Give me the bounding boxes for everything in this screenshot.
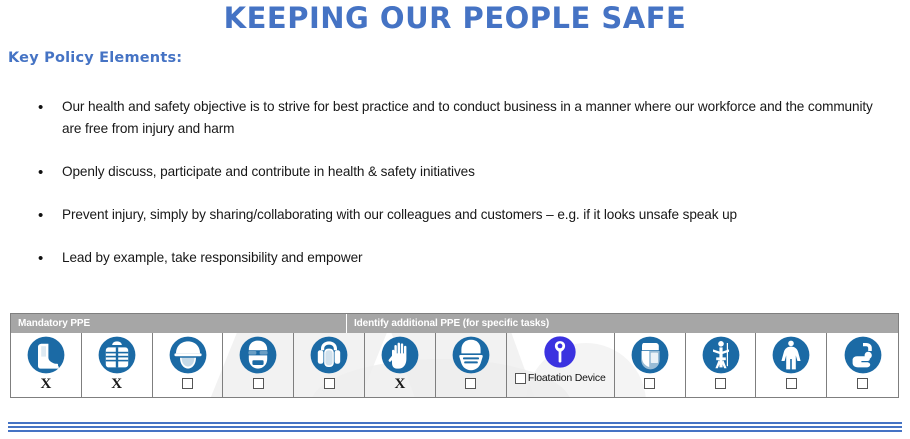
list-item: • Our health and safety objective is to … — [0, 96, 910, 140]
footer-divider — [8, 422, 902, 432]
ppe-cell-safety-harness[interactable] — [686, 333, 757, 397]
ppe-table-cells-row: X X — [10, 333, 899, 398]
ear-protection-icon — [309, 335, 349, 375]
ppe-checkbox-wrap[interactable] — [253, 378, 264, 389]
ppe-mark: X — [395, 376, 406, 392]
ppe-checkbox-label: Floatation Device — [528, 372, 606, 384]
ppe-cell-wash-hands[interactable] — [827, 333, 898, 397]
ppe-cell-safety-boots[interactable]: X — [11, 333, 82, 397]
ppe-cell-face-shield[interactable] — [615, 333, 686, 397]
page-title: KEEPING OUR PEOPLE SAFE — [0, 0, 910, 36]
ppe-cell-floatation-device[interactable]: Floatation Device — [507, 333, 615, 397]
ppe-checkbox-wrap[interactable] — [465, 378, 476, 389]
section-heading-key-policy-elements: Key Policy Elements: — [8, 50, 182, 66]
ppe-cell-dust-mask[interactable] — [436, 333, 507, 397]
ppe-checkbox[interactable] — [715, 378, 726, 389]
safety-harness-icon — [701, 335, 741, 375]
ppe-checkbox[interactable] — [182, 378, 193, 389]
ppe-cell-head-protection[interactable] — [153, 333, 224, 397]
divider-line — [8, 430, 902, 432]
ppe-checkbox[interactable] — [253, 378, 264, 389]
safety-boots-icon — [26, 335, 66, 375]
ppe-mark: X — [111, 376, 122, 392]
dust-mask-icon — [451, 335, 491, 375]
ppe-requirements-table: Mandatory PPE Identify additional PPE (f… — [10, 313, 899, 398]
ppe-cell-protective-clothing[interactable] — [756, 333, 827, 397]
key-policy-elements-list: • Our health and safety objective is to … — [0, 96, 910, 290]
high-visibility-vest-icon — [97, 335, 137, 375]
list-item: • Lead by example, take responsibility a… — [0, 247, 910, 269]
protective-gloves-icon — [380, 335, 420, 375]
ppe-checkbox-wrap[interactable] — [857, 378, 868, 389]
protective-clothing-icon — [771, 335, 811, 375]
ppe-checkbox[interactable] — [465, 378, 476, 389]
ppe-checkbox[interactable] — [786, 378, 797, 389]
ppe-checkbox-wrap[interactable] — [786, 378, 797, 389]
bullet-icon: • — [38, 162, 43, 184]
safety-glasses-icon — [238, 335, 278, 375]
bullet-icon: • — [38, 248, 43, 270]
ppe-cell-high-visibility-vest[interactable]: X — [82, 333, 153, 397]
wash-hands-icon — [843, 335, 883, 375]
ppe-checkbox[interactable] — [644, 378, 655, 389]
ppe-checkbox[interactable] — [515, 373, 526, 384]
bullet-icon: • — [38, 97, 43, 119]
ppe-checkbox[interactable] — [857, 378, 868, 389]
bullet-icon: • — [38, 205, 43, 227]
ppe-checkbox-wrap[interactable] — [182, 378, 193, 389]
list-item: • Prevent injury, simply by sharing/coll… — [0, 204, 910, 226]
floatation-device-icon — [543, 335, 577, 369]
ppe-checkbox-wrap[interactable] — [715, 378, 726, 389]
list-item-text: Our health and safety objective is to st… — [62, 99, 873, 136]
ppe-header-mandatory: Mandatory PPE — [11, 314, 347, 333]
list-item: • Openly discuss, participate and contri… — [0, 161, 910, 183]
list-item-text: Prevent injury, simply by sharing/collab… — [62, 207, 737, 222]
ppe-checkbox[interactable] — [324, 378, 335, 389]
ppe-table-header-row: Mandatory PPE Identify additional PPE (f… — [10, 313, 899, 333]
ppe-header-additional: Identify additional PPE (for specific ta… — [347, 314, 898, 333]
ppe-mark: X — [40, 376, 51, 392]
ppe-checkbox-wrap[interactable] — [324, 378, 335, 389]
ppe-cell-safety-glasses[interactable] — [223, 333, 294, 397]
ppe-checkbox-wrap[interactable]: Floatation Device — [515, 372, 606, 384]
head-protection-icon — [168, 335, 208, 375]
list-item-text: Lead by example, take responsibility and… — [62, 250, 362, 265]
ppe-checkbox-wrap[interactable] — [644, 378, 655, 389]
ppe-cell-ear-protection[interactable] — [294, 333, 365, 397]
face-shield-icon — [630, 335, 670, 375]
list-item-text: Openly discuss, participate and contribu… — [62, 164, 475, 179]
ppe-cell-protective-gloves[interactable]: X — [365, 333, 436, 397]
